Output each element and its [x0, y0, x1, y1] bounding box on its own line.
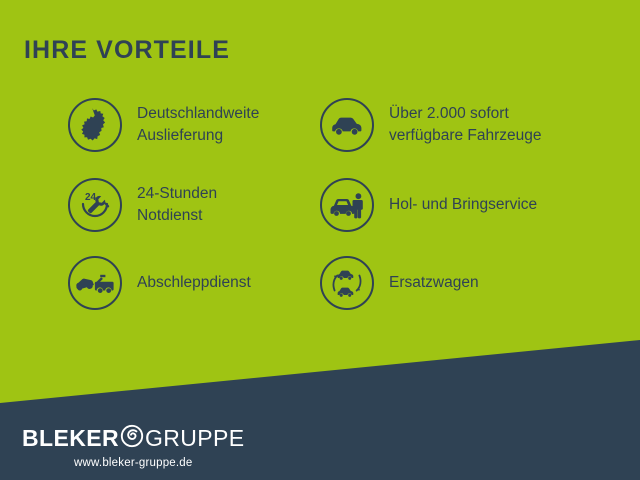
benefit-item-ersatzwagen: Ersatzwagen — [320, 256, 479, 310]
benefit-item-24-stunden-notdienst: 24 24-Stunden Notdienst — [68, 178, 217, 232]
24-badge-text: 24 — [85, 192, 97, 203]
benefit-item-deutschlandweite-auslieferung: Deutschlandweite Auslieferung — [68, 98, 259, 152]
marketing-slide: IHRE VORTEILE Deutschlandweite Ausliefer… — [0, 0, 640, 480]
benefit-label: Über 2.000 sofort verfügbare Fahrzeuge — [389, 103, 542, 147]
spiral-circle-logo-icon — [120, 424, 144, 452]
two-cars-exchange-icon — [320, 256, 374, 310]
company-logo: BLEKER GRUPPE www.bleker-gruppe.de — [22, 424, 245, 469]
benefit-label: Abschleppdienst — [137, 272, 251, 294]
24-hour-wrench-icon: 24 — [68, 178, 122, 232]
tow-truck-icon — [68, 256, 122, 310]
benefit-label: 24-Stunden Notdienst — [137, 183, 217, 227]
logo-name-light: GRUPPE — [145, 427, 245, 450]
logo-name-bold: BLEKER — [22, 427, 119, 450]
germany-map-icon — [68, 98, 122, 152]
website-url: www.bleker-gruppe.de — [74, 457, 192, 469]
car-side-icon — [320, 98, 374, 152]
benefit-label: Hol- und Bringservice — [389, 194, 537, 216]
car-with-attendant-icon — [320, 178, 374, 232]
benefit-label: Deutschlandweite Auslieferung — [137, 103, 259, 147]
benefit-item-abschleppdienst: Abschleppdienst — [68, 256, 251, 310]
benefits-list: Deutschlandweite Auslieferung Über 2.000… — [0, 0, 640, 340]
benefit-item-hol-und-bringservice: Hol- und Bringservice — [320, 178, 537, 232]
benefit-item-verfuegbare-fahrzeuge: Über 2.000 sofort verfügbare Fahrzeuge — [320, 98, 542, 152]
benefit-label: Ersatzwagen — [389, 272, 479, 294]
logo-wordmark: BLEKER GRUPPE — [22, 424, 245, 452]
